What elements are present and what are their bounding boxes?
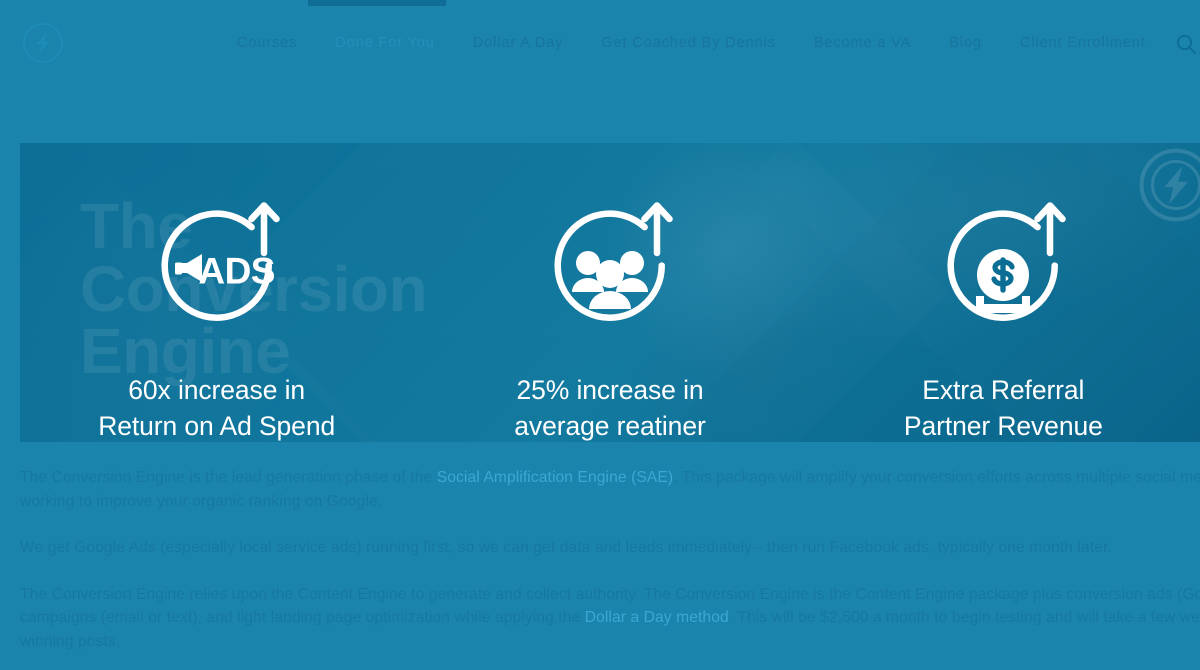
- nav-item-courses[interactable]: Courses: [218, 31, 316, 55]
- site-header: Courses Done For You Dollar A Day Get Co…: [0, 0, 1200, 86]
- paragraph-1-text-before-link: The Conversion Engine is the lead genera…: [20, 469, 437, 486]
- stat-card-referral-revenue: Extra Referral Partner Revenue: [807, 143, 1200, 442]
- stat-caption-line-2: Return on Ad Spend: [98, 409, 335, 442]
- hero-banner: The Conversion Engine: [20, 143, 1200, 442]
- stat-card-caption: 60x increase in Return on Ad Spend: [98, 373, 335, 442]
- paragraph-2: We get Google Ads (especially local serv…: [20, 536, 1200, 560]
- stat-caption-line-1: 60x increase in: [98, 373, 335, 409]
- dollar-a-day-method-link[interactable]: Dollar a Day method: [585, 609, 729, 626]
- megaphone-ads-circular-arrow-icon: ADS: [133, 187, 301, 355]
- social-amplification-engine-link[interactable]: Social Amplification Engine (SAE): [437, 469, 673, 486]
- stat-caption-line-1: 25% increase in: [514, 373, 705, 409]
- stat-caption-line-2: average reatiner: [514, 409, 705, 442]
- nav-item-client-enrollment[interactable]: Client Enrollment: [1001, 31, 1165, 55]
- paragraph-1: The Conversion Engine is the lead genera…: [20, 466, 1200, 513]
- nav-item-done-for-you[interactable]: Done For You: [316, 31, 453, 55]
- nav-item-get-coached-by-dennis[interactable]: Get Coached By Dennis: [582, 31, 794, 55]
- stat-card-retainer: 25% increase in average reatiner: [413, 143, 806, 442]
- stat-caption-line-1: Extra Referral: [904, 373, 1103, 409]
- search-icon[interactable]: [1175, 33, 1197, 55]
- stat-card-caption: Extra Referral Partner Revenue: [904, 373, 1103, 442]
- dollar-coin-circular-arrow-icon: [919, 187, 1087, 355]
- body-copy: The Conversion Engine is the lead genera…: [20, 466, 1200, 654]
- main-navigation: Courses Done For You Dollar A Day Get Co…: [218, 31, 1165, 55]
- lightning-bolt-circle-logo-icon[interactable]: [22, 22, 64, 64]
- active-nav-indicator-bar: [308, 0, 446, 6]
- ads-icon-label: ADS: [198, 253, 275, 290]
- nav-item-dollar-a-day[interactable]: Dollar A Day: [454, 31, 583, 55]
- stat-card-ads: ADS 60x increase in Return on Ad Spend: [20, 143, 413, 442]
- stat-caption-line-2: Partner Revenue: [904, 409, 1103, 442]
- nav-item-become-a-va[interactable]: Become a VA: [795, 31, 930, 55]
- people-group-circular-arrow-icon: [526, 187, 694, 355]
- page-root: Courses Done For You Dollar A Day Get Co…: [0, 0, 1200, 670]
- stat-card-caption: 25% increase in average reatiner: [514, 373, 705, 442]
- paragraph-3: The Conversion Engine relies upon the Co…: [20, 583, 1200, 654]
- banner-stat-cards: ADS 60x increase in Return on Ad Spend: [20, 143, 1200, 442]
- nav-item-blog[interactable]: Blog: [930, 31, 1001, 55]
